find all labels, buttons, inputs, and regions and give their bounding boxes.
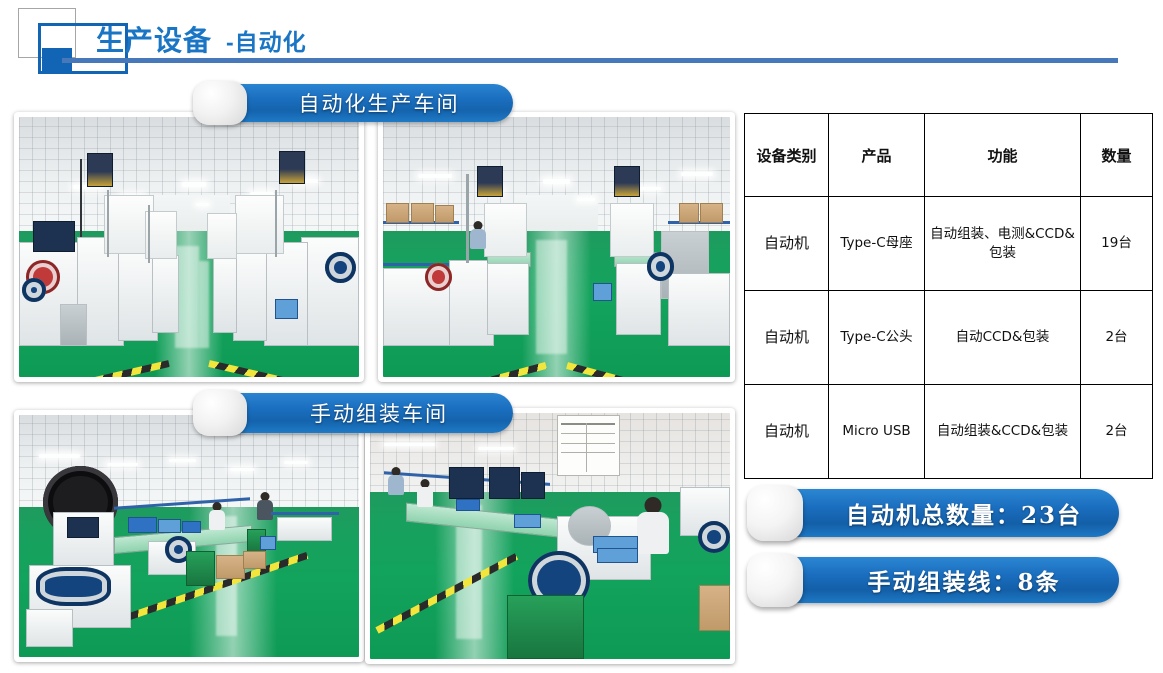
banner-tag-icon <box>193 390 247 436</box>
table-header-row: 设备类别 产品 功能 数量 <box>745 114 1153 197</box>
page-title-main: 生产设备 <box>96 25 212 56</box>
table-header-function: 功能 <box>925 114 1081 197</box>
cell-product: Micro USB <box>829 385 925 479</box>
cell-function: 自动组装、电测&CCD&包装 <box>925 197 1081 291</box>
photo-manual-assembly-2 <box>365 408 735 664</box>
cell-category: 自动机 <box>745 197 829 291</box>
cell-category: 自动机 <box>745 291 829 385</box>
cell-function: 自动组装&CCD&包装 <box>925 385 1081 479</box>
banner-bar: 自动化生产车间 <box>211 84 513 122</box>
table-row: 自动机 Type-C母座 自动组装、电测&CCD&包装 19台 <box>745 197 1153 291</box>
summary-manual-lines-label: 手动组装线：8条 <box>827 563 1060 597</box>
cell-quantity: 19台 <box>1081 197 1153 291</box>
table-row: 自动机 Micro USB 自动组装&CCD&包装 2台 <box>745 385 1153 479</box>
photo-automation-workshop-2 <box>378 112 735 382</box>
cell-quantity: 2台 <box>1081 291 1153 385</box>
banner-manual-label: 手动组装车间 <box>276 398 448 428</box>
summary-manual-lines[interactable]: 手动组装线：8条 <box>747 553 1119 607</box>
cell-function: 自动CCD&包装 <box>925 291 1081 385</box>
table-row: 自动机 Type-C公头 自动CCD&包装 2台 <box>745 291 1153 385</box>
equipment-table: 设备类别 产品 功能 数量 自动机 Type-C母座 自动组装、电测&CCD&包… <box>744 113 1153 479</box>
page-title: 生产设备-自动化 <box>96 19 307 59</box>
table-header-quantity: 数量 <box>1081 114 1153 197</box>
cell-quantity: 2台 <box>1081 385 1153 479</box>
page-title-sub: -自动化 <box>226 29 307 55</box>
summary-bar: 自动机总数量：23台 <box>769 489 1119 537</box>
banner-bar: 手动组装车间 <box>211 393 513 433</box>
banner-manual-workshop[interactable]: 手动组装车间 <box>193 393 513 433</box>
summary-tag-icon <box>747 485 803 541</box>
summary-bar: 手动组装线：8条 <box>769 557 1119 603</box>
slide-root: 生产设备-自动化 <box>0 0 1163 673</box>
table-header-product: 产品 <box>829 114 925 197</box>
table-header-category: 设备类别 <box>745 114 829 197</box>
banner-automation-workshop[interactable]: 自动化生产车间 <box>193 84 513 122</box>
summary-tag-icon <box>747 553 803 607</box>
photo-automation-workshop-1 <box>14 112 364 382</box>
banner-automation-label: 自动化生产车间 <box>265 88 460 118</box>
header-divider <box>62 58 1118 63</box>
summary-total-machines-label: 自动机总数量：23台 <box>806 496 1082 530</box>
cell-product: Type-C母座 <box>829 197 925 291</box>
summary-total-machines[interactable]: 自动机总数量：23台 <box>747 485 1119 541</box>
banner-tag-icon <box>193 81 247 125</box>
cell-category: 自动机 <box>745 385 829 479</box>
cell-product: Type-C公头 <box>829 291 925 385</box>
photo-manual-assembly-1 <box>14 410 364 662</box>
